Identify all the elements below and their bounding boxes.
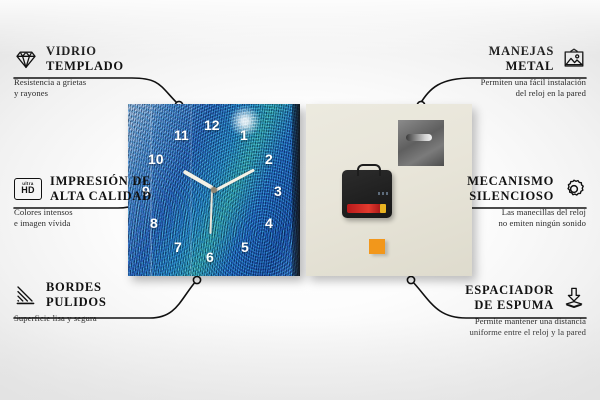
feature-mecanismo-silencioso[interactable]: MECANISMO SILENCIOSO Las manecillas del … — [426, 174, 586, 229]
feature-espaciador-espuma[interactable]: ESPACIADOR DE ESPUMA Permite mantener un… — [408, 283, 586, 338]
battery-terminal — [380, 204, 386, 213]
feature-title: BORDES PULIDOS — [46, 280, 106, 310]
mechanism-label — [378, 192, 388, 195]
clock-numeral: 1 — [240, 128, 248, 142]
feature-heading: BORDES PULIDOS — [14, 280, 154, 310]
clock-numeral: 11 — [174, 128, 189, 142]
clock-numeral: 4 — [265, 216, 273, 230]
feature-subtitle: Permite mantener una distancia uniforme … — [408, 313, 586, 339]
feature-subtitle: Colores intensos e imagen vívida — [14, 204, 154, 230]
clock-pivot — [211, 187, 217, 193]
polished-edge-icon — [14, 283, 38, 307]
foam-spacer-icon — [562, 286, 586, 310]
feature-title: IMPRESIÓN DE ALTA CALIDAD — [50, 174, 152, 204]
feature-manejas-metal[interactable]: MANEJAS METAL Permiten una fácil instala… — [426, 44, 586, 99]
feature-title: ESPACIADOR DE ESPUMA — [465, 283, 554, 313]
feature-heading: ultra HD IMPRESIÓN DE ALTA CALIDAD — [14, 174, 154, 204]
feature-heading: MECANISMO SILENCIOSO — [426, 174, 586, 204]
clock-numeral: 3 — [274, 184, 282, 198]
feature-impresion-alta-calidad[interactable]: ultra HD IMPRESIÓN DE ALTA CALIDAD Color… — [14, 174, 154, 229]
feature-heading: MANEJAS METAL — [426, 44, 586, 74]
clock-side-edge — [292, 104, 300, 276]
clock-numeral: 7 — [174, 240, 182, 254]
feature-title: MANEJAS METAL — [489, 44, 554, 74]
clock-numeral: 2 — [265, 152, 273, 166]
hanger-slot — [406, 134, 432, 141]
feature-heading: ESPACIADOR DE ESPUMA — [408, 283, 586, 313]
picture-hanger-icon — [562, 47, 586, 71]
feature-subtitle: Resistencia a grietas y rayones — [14, 74, 144, 100]
feature-title: MECANISMO SILENCIOSO — [467, 174, 554, 204]
feature-heading: VIDRIO TEMPLADO — [14, 44, 144, 74]
leader-dot-bordes — [193, 276, 200, 283]
diamond-icon — [14, 47, 38, 71]
clock-mechanism — [342, 170, 392, 218]
infographic-canvas: 12 1 2 3 4 5 6 7 8 9 10 11 — [0, 0, 600, 400]
clock-numeral: 5 — [241, 240, 249, 254]
battery — [347, 204, 383, 213]
mechanism-hook — [357, 164, 381, 176]
hanger-plate — [398, 120, 444, 166]
clock-numeral: 6 — [206, 250, 214, 264]
gear-icon — [562, 177, 586, 201]
foam-spacer — [369, 239, 385, 254]
feature-title: VIDRIO TEMPLADO — [46, 44, 124, 74]
feature-subtitle: Las manecillas del reloj no emiten ningú… — [426, 204, 586, 230]
feature-bordes-pulidos[interactable]: BORDES PULIDOS Superficie lisa y segura — [14, 280, 154, 324]
ultra-hd-icon: ultra HD — [14, 178, 42, 200]
feature-subtitle: Superficie lisa y segura — [14, 310, 154, 324]
clock-numeral: 12 — [204, 118, 220, 132]
feature-subtitle: Permiten una fácil instalación del reloj… — [426, 74, 586, 100]
feature-vidrio-templado[interactable]: VIDRIO TEMPLADO Resistencia a grietas y … — [14, 44, 144, 99]
clock-numeral: 10 — [148, 152, 164, 166]
product-image: 12 1 2 3 4 5 6 7 8 9 10 11 — [128, 104, 472, 276]
